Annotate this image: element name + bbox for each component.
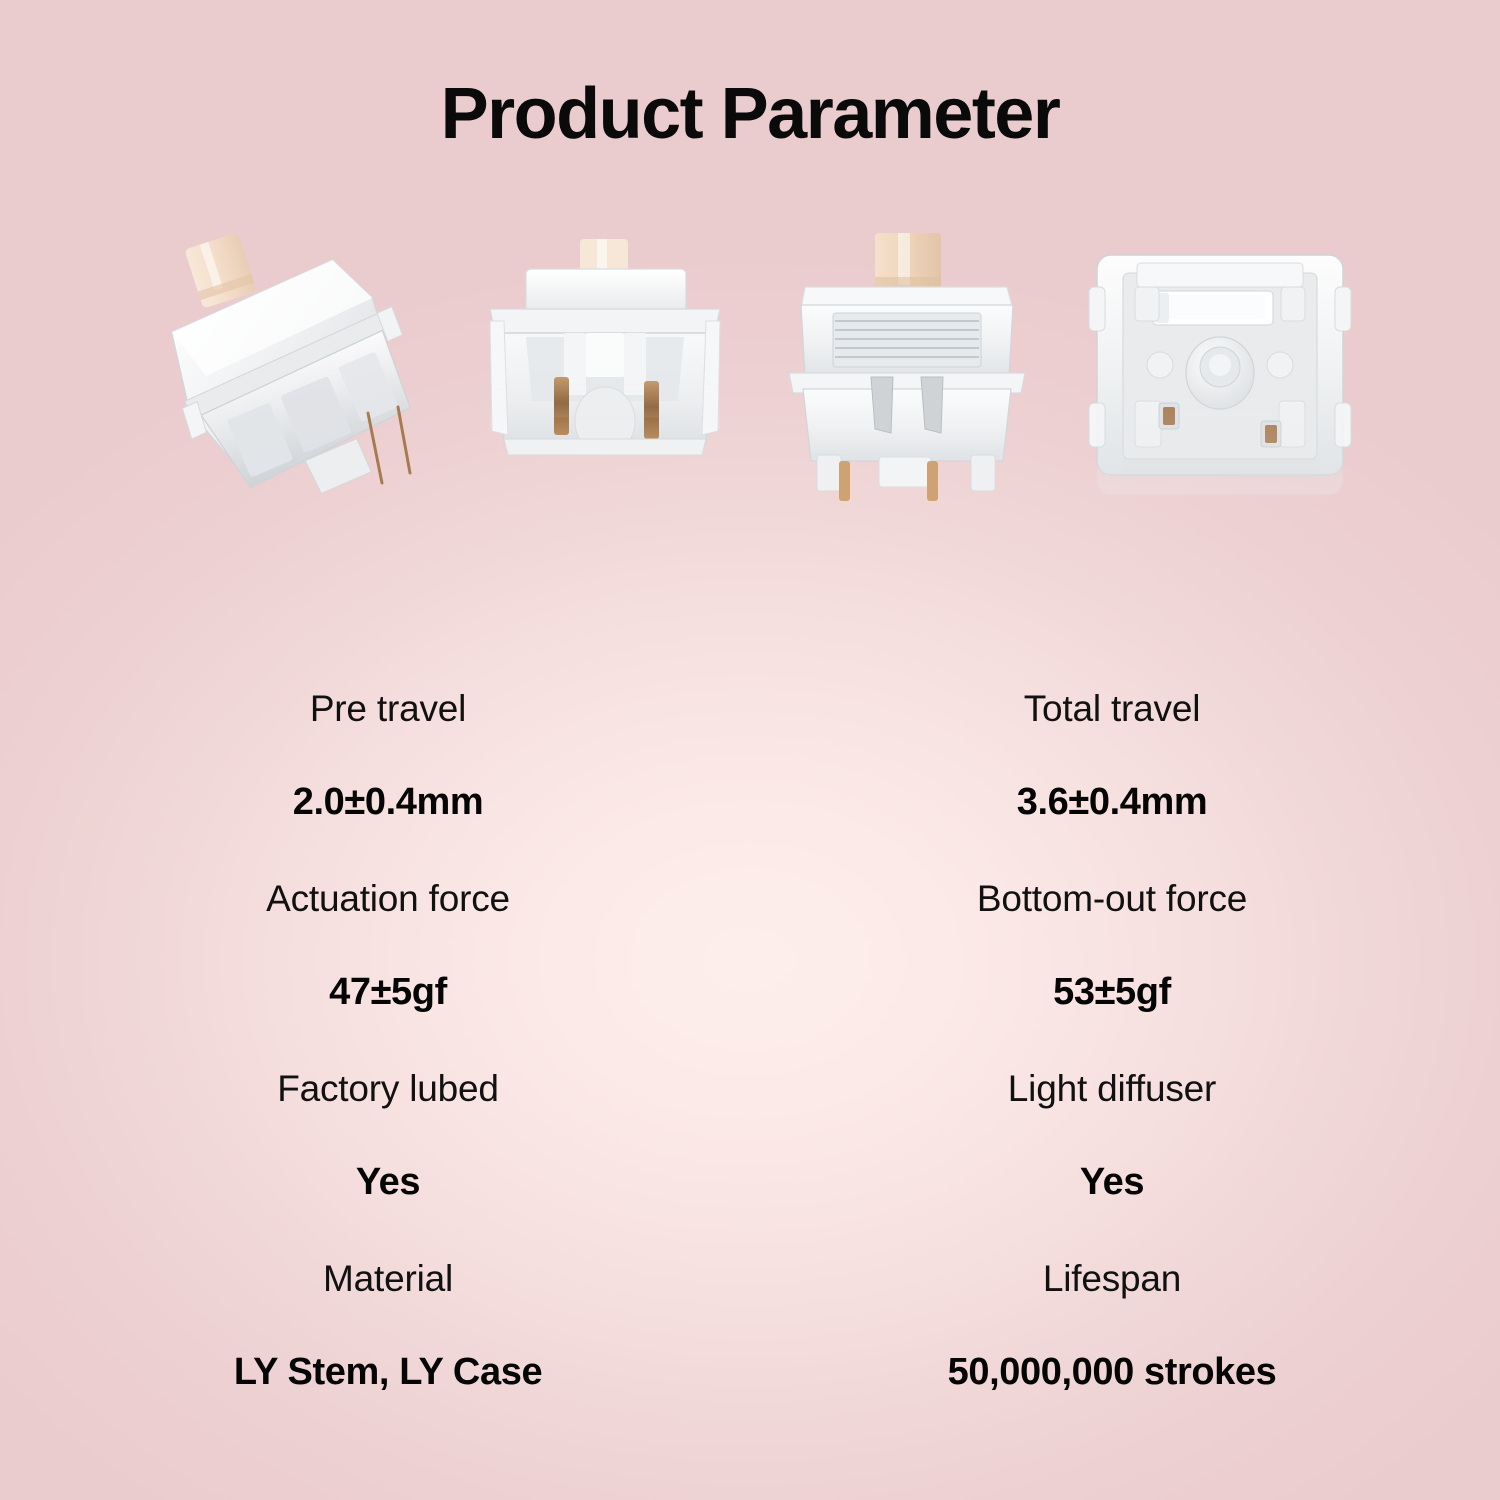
switch-angled-view-reflection [160, 365, 450, 525]
parameter-label: Factory lubed [128, 1070, 648, 1107]
parameter-cell-material: Material LY Stem, LY Case [128, 1260, 648, 1391]
parameter-list: Pre travel 2.0±0.4mm Total travel 3.6±0.… [0, 690, 1500, 1450]
parameter-row: Material LY Stem, LY Case Lifespan 50,00… [0, 1260, 1500, 1450]
switch-back-view [468, 225, 758, 645]
parameter-cell-light-diffuser: Light diffuser Yes [852, 1070, 1372, 1201]
parameter-value: 47±5gf [128, 973, 648, 1011]
parameter-value: Yes [852, 1163, 1372, 1201]
parameter-value: LY Stem, LY Case [128, 1353, 648, 1391]
parameter-label: Light diffuser [852, 1070, 1372, 1107]
parameter-label: Total travel [852, 690, 1372, 727]
switch-front-view [775, 225, 1065, 645]
parameter-row: Actuation force 47±5gf Bottom-out force … [0, 880, 1500, 1070]
parameter-value: 3.6±0.4mm [852, 783, 1372, 821]
parameter-label: Bottom-out force [852, 880, 1372, 917]
parameter-cell-actuation-force: Actuation force 47±5gf [128, 880, 648, 1011]
parameter-value: 50,000,000 strokes [852, 1353, 1372, 1391]
parameter-label: Lifespan [852, 1260, 1372, 1297]
parameter-row: Factory lubed Yes Light diffuser Yes [0, 1070, 1500, 1260]
switch-back-view-reflection [468, 365, 758, 525]
parameter-label: Material [128, 1260, 648, 1297]
parameter-label: Actuation force [128, 880, 648, 917]
parameter-cell-bottom-out-force: Bottom-out force 53±5gf [852, 880, 1372, 1011]
product-parameter-page: Product Parameter [0, 0, 1500, 1500]
parameter-value: 2.0±0.4mm [128, 783, 648, 821]
parameter-cell-lifespan: Lifespan 50,000,000 strokes [852, 1260, 1372, 1391]
parameter-label: Pre travel [128, 690, 648, 727]
switch-bottom-view [1075, 225, 1365, 645]
switch-front-view-reflection [775, 365, 1065, 525]
page-title: Product Parameter [0, 78, 1500, 150]
parameter-cell-pre-travel: Pre travel 2.0±0.4mm [128, 690, 648, 821]
switch-bottom-view-reflection [1075, 365, 1365, 525]
parameter-value: 53±5gf [852, 973, 1372, 1011]
switch-gallery [150, 225, 1370, 645]
parameter-value: Yes [128, 1163, 648, 1201]
parameter-row: Pre travel 2.0±0.4mm Total travel 3.6±0.… [0, 690, 1500, 880]
switch-angled-view [160, 225, 450, 645]
parameter-cell-total-travel: Total travel 3.6±0.4mm [852, 690, 1372, 821]
parameter-cell-factory-lubed: Factory lubed Yes [128, 1070, 648, 1201]
